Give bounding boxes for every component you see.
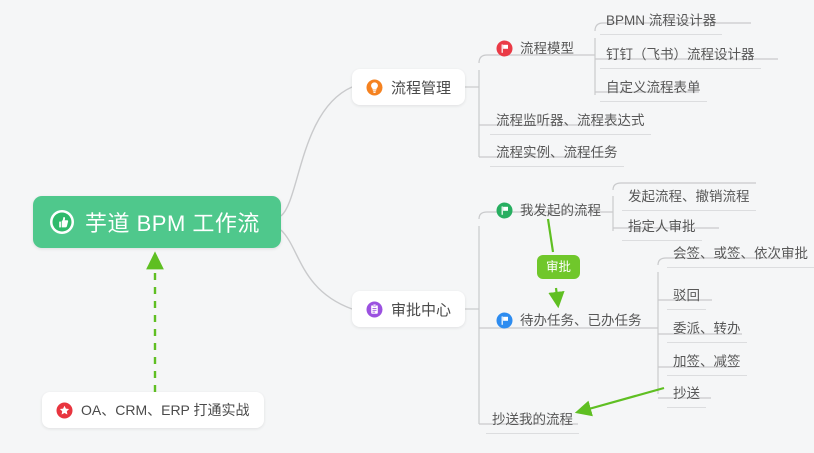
root-label: 芋道 BPM 工作流	[85, 206, 260, 238]
node-my-initiated[interactable]: 我发起的流程	[494, 202, 607, 219]
branch-label: 审批中心	[391, 299, 451, 320]
bottom-note-label: OA、CRM、ERP 打通实战	[81, 400, 250, 420]
flag-icon	[496, 312, 513, 329]
node-process-model[interactable]: 流程模型	[494, 40, 580, 57]
node-label: 我发起的流程	[520, 202, 601, 219]
leaf-countersign[interactable]: 会签、或签、依次审批	[667, 245, 814, 268]
bottom-note-card[interactable]: OA、CRM、ERP 打通实战	[42, 392, 264, 428]
lightbulb-icon	[366, 79, 383, 96]
mindmap-canvas: 芋道 BPM 工作流 OA、CRM、ERP 打通实战 流程管理	[0, 0, 814, 453]
clipboard-icon	[366, 301, 383, 318]
branch-process-management[interactable]: 流程管理	[352, 69, 465, 105]
star-badge-icon	[56, 402, 73, 419]
leaf-assigned-approver[interactable]: 指定人审批	[622, 218, 702, 241]
leaf-start-cancel-process[interactable]: 发起流程、撤销流程	[622, 188, 756, 211]
flag-icon	[496, 202, 513, 219]
root-node[interactable]: 芋道 BPM 工作流	[33, 196, 281, 248]
leaf-carbon-copy[interactable]: 抄送	[667, 385, 706, 408]
leaf-bpmn-designer[interactable]: BPMN 流程设计器	[600, 12, 722, 35]
branch-approval-center[interactable]: 审批中心	[352, 291, 465, 327]
node-label: 流程模型	[520, 40, 574, 57]
leaf-add-remove-sign[interactable]: 加签、减签	[667, 353, 747, 376]
flag-icon	[496, 40, 513, 57]
leaf-process-instance[interactable]: 流程实例、流程任务	[490, 144, 624, 167]
leaf-custom-form[interactable]: 自定义流程表单	[600, 79, 707, 102]
approval-tag: 审批	[537, 255, 580, 279]
leaf-process-listener[interactable]: 流程监听器、流程表达式	[490, 112, 651, 135]
leaf-dingtalk-designer[interactable]: 钉钉（飞书）流程设计器	[600, 46, 761, 69]
leaf-cc-my-process[interactable]: 抄送我的流程	[486, 411, 579, 434]
leaf-delegate-transfer[interactable]: 委派、转办	[667, 320, 747, 343]
branch-label: 流程管理	[391, 77, 451, 98]
leaf-reject[interactable]: 驳回	[667, 287, 706, 310]
thumbs-up-icon	[49, 209, 75, 235]
node-todo-done-tasks[interactable]: 待办任务、已办任务	[494, 312, 648, 329]
node-label: 待办任务、已办任务	[520, 312, 642, 329]
